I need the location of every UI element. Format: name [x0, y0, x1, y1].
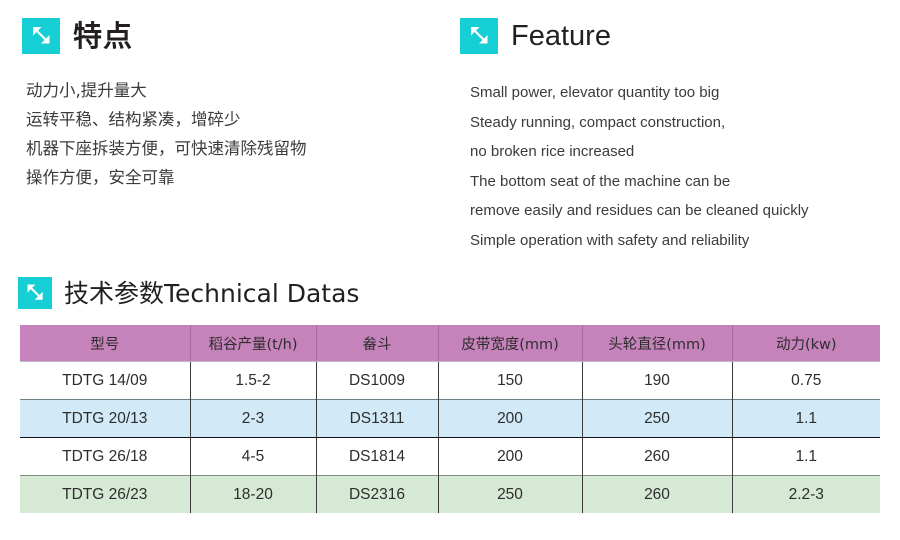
cell-bucket: DS1814	[316, 438, 438, 476]
cell-capacity: 18-20	[190, 476, 316, 514]
cell-bucket: DS2316	[316, 476, 438, 514]
cell-belt-width: 250	[438, 476, 582, 514]
feature-line: Small power, elevator quantity too big	[470, 78, 900, 108]
cell-head-pulley: 260	[582, 438, 732, 476]
technical-datas-heading: 技术参数Technical Datas	[0, 277, 900, 309]
cell-capacity: 2-3	[190, 400, 316, 438]
column-header-bucket: 畚斗	[316, 325, 438, 362]
spec-table-wrapper: 型号 稻谷产量(t/h) 畚斗 皮带宽度(mm) 头轮直径(mm) 动力(kw)…	[20, 325, 880, 513]
cell-capacity: 4-5	[190, 438, 316, 476]
arrow-down-right-icon	[18, 277, 52, 309]
features-chinese-title: 特点	[73, 22, 133, 51]
cell-power: 0.75	[732, 362, 880, 400]
column-header-power: 动力(kw)	[732, 325, 880, 362]
feature-line: The bottom seat of the machine can be	[470, 167, 900, 197]
feature-line: 操作方便，安全可靠	[26, 163, 450, 192]
table-row: TDTG 26/18 4-5 DS1814 200 260 1.1	[20, 438, 880, 476]
features-english-title: Feature	[511, 22, 611, 51]
features-english-column: Feature Small power, elevator quantity t…	[450, 18, 900, 255]
arrow-down-right-icon	[460, 18, 498, 54]
features-chinese-column: 特点 动力小,提升量大 运转平稳、结构紧凑，增碎少 机器下座拆装方便，可快速清除…	[0, 18, 450, 255]
cell-head-pulley: 250	[582, 400, 732, 438]
feature-line: remove easily and residues can be cleane…	[470, 196, 900, 226]
features-english-list: Small power, elevator quantity too big S…	[460, 78, 900, 255]
features-chinese-list: 动力小,提升量大 运转平稳、结构紧凑，增碎少 机器下座拆装方便，可快速清除残留物…	[22, 76, 450, 192]
column-header-head-pulley: 头轮直径(mm)	[582, 325, 732, 362]
cell-power: 1.1	[732, 400, 880, 438]
cell-model: TDTG 14/09	[20, 362, 190, 400]
column-header-capacity: 稻谷产量(t/h)	[190, 325, 316, 362]
feature-line: 动力小,提升量大	[26, 76, 450, 105]
cell-power: 2.2-3	[732, 476, 880, 514]
cell-belt-width: 200	[438, 438, 582, 476]
feature-line: 运转平稳、结构紧凑，增碎少	[26, 105, 450, 134]
technical-datas-title: 技术参数Technical Datas	[64, 281, 359, 306]
cell-bucket: DS1311	[316, 400, 438, 438]
cell-belt-width: 150	[438, 362, 582, 400]
features-english-heading: Feature	[460, 18, 900, 54]
cell-model: TDTG 26/18	[20, 438, 190, 476]
table-row: TDTG 14/09 1.5-2 DS1009 150 190 0.75	[20, 362, 880, 400]
features-chinese-heading: 特点	[22, 18, 450, 54]
table-header-row: 型号 稻谷产量(t/h) 畚斗 皮带宽度(mm) 头轮直径(mm) 动力(kw)	[20, 325, 880, 362]
table-row: TDTG 20/13 2-3 DS1311 200 250 1.1	[20, 400, 880, 438]
column-header-model: 型号	[20, 325, 190, 362]
features-section: 特点 动力小,提升量大 运转平稳、结构紧凑，增碎少 机器下座拆装方便，可快速清除…	[0, 0, 900, 255]
cell-model: TDTG 20/13	[20, 400, 190, 438]
arrow-down-right-icon	[22, 18, 60, 54]
spec-table: 型号 稻谷产量(t/h) 畚斗 皮带宽度(mm) 头轮直径(mm) 动力(kw)…	[20, 325, 880, 513]
cell-head-pulley: 190	[582, 362, 732, 400]
cell-power: 1.1	[732, 438, 880, 476]
cell-belt-width: 200	[438, 400, 582, 438]
spec-table-header: 型号 稻谷产量(t/h) 畚斗 皮带宽度(mm) 头轮直径(mm) 动力(kw)	[20, 325, 880, 362]
feature-line: 机器下座拆装方便，可快速清除残留物	[26, 134, 450, 163]
feature-line: Steady running, compact construction,	[470, 108, 900, 138]
cell-bucket: DS1009	[316, 362, 438, 400]
table-row: TDTG 26/23 18-20 DS2316 250 260 2.2-3	[20, 476, 880, 514]
feature-line: no broken rice increased	[470, 137, 900, 167]
cell-capacity: 1.5-2	[190, 362, 316, 400]
cell-model: TDTG 26/23	[20, 476, 190, 514]
feature-line: Simple operation with safety and reliabi…	[470, 226, 900, 256]
column-header-belt-width: 皮带宽度(mm)	[438, 325, 582, 362]
cell-head-pulley: 260	[582, 476, 732, 514]
spec-table-body: TDTG 14/09 1.5-2 DS1009 150 190 0.75 TDT…	[20, 362, 880, 514]
